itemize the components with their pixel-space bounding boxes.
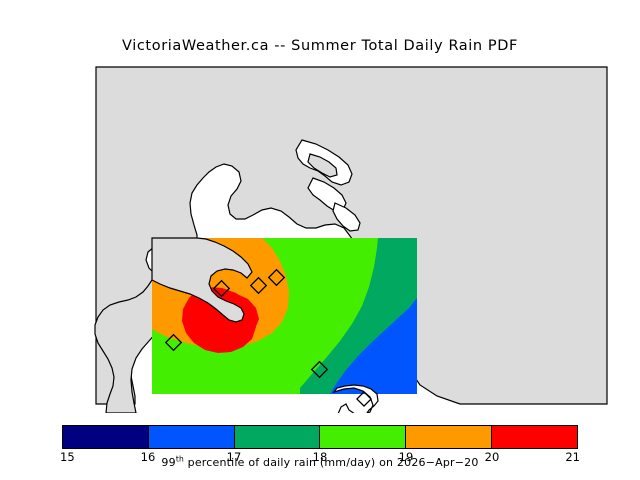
colorbar-band [406,426,492,448]
colorbar-band [149,426,235,448]
caption-superscript: th [176,454,184,463]
colorbar-band [492,426,577,448]
page-title: VictoriaWeather.ca -- Summer Total Daily… [0,38,640,54]
weather-map [0,58,640,413]
caption-prefix: 99 [161,456,175,469]
colorbar-band [235,426,321,448]
colorbar-bands [62,425,578,449]
colorbar-caption: 99th percentile of daily rain (mm/day) o… [0,456,640,469]
map-panel [0,58,640,413]
colorbar: 15161718192021 [62,425,578,449]
caption-rest: percentile of daily rain (mm/day) on 202… [184,456,479,469]
colorbar-band [320,426,406,448]
colorbar-band [63,426,149,448]
